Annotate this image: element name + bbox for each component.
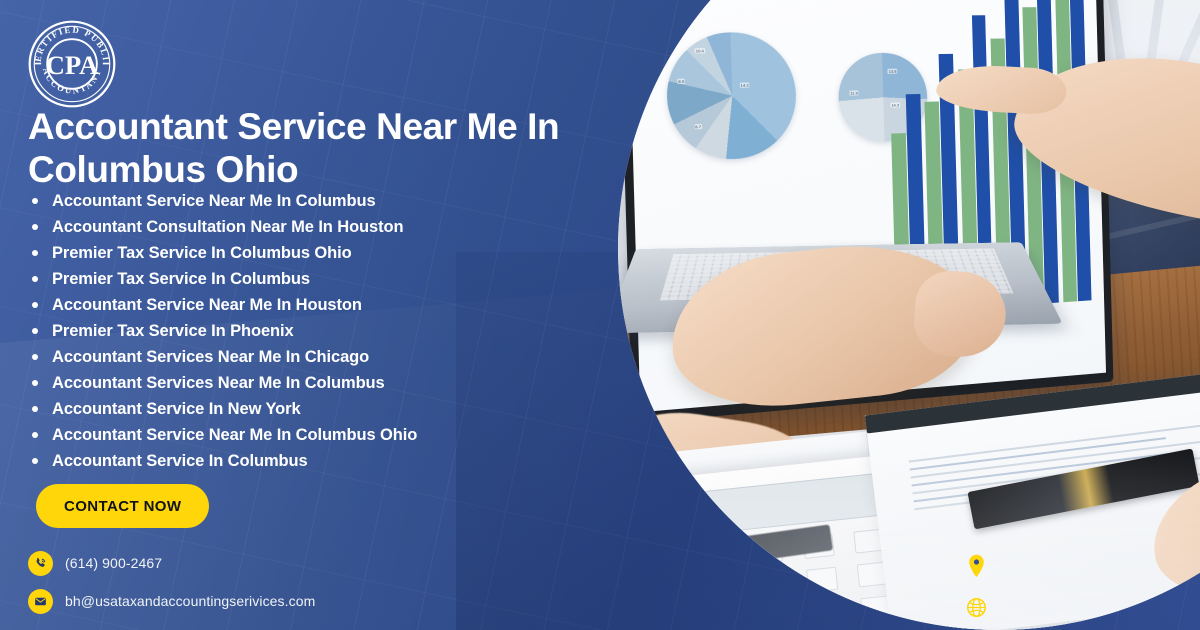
envelope-icon	[28, 589, 53, 614]
phone-row[interactable]: (614) 900-2467	[28, 546, 315, 580]
address-text: 495 s. High st, suite 400 Columbus Ohio …	[1003, 548, 1148, 584]
list-item: Premier Tax Service In Phoenix	[32, 318, 592, 344]
list-item: Accountant Service Near Me In Columbus	[32, 188, 592, 214]
list-item: Accountant Service Near Me In Columbus O…	[32, 422, 592, 448]
website-url: www.cpataxbh.com	[1003, 598, 1119, 616]
bullet-icon	[32, 198, 38, 204]
list-item-label: Accountant Service Near Me In Columbus O…	[52, 426, 417, 445]
bullet-icon	[32, 432, 38, 438]
contact-info-right: 495 s. High st, suite 400 Columbus Ohio …	[963, 548, 1148, 622]
list-item: Premier Tax Service In Columbus	[32, 266, 592, 292]
website-row[interactable]: www.cpataxbh.com	[963, 592, 1119, 622]
address-line-2: Columbus Ohio 43215	[1003, 567, 1137, 582]
contact-info-left: (614) 900-2467 bh@usataxandaccountingser…	[28, 546, 315, 622]
email-address: bh@usataxandaccountingserivices.com	[65, 593, 315, 609]
list-item-label: Premier Tax Service In Columbus	[52, 270, 310, 289]
bullet-icon	[32, 380, 38, 386]
cpa-seal-icon: CERTIFIED PUBLIC ACCOUNTANT CPA	[26, 18, 118, 110]
address-row: 495 s. High st, suite 400 Columbus Ohio …	[963, 548, 1148, 584]
list-item-label: Accountant Service Near Me In Columbus	[52, 192, 376, 211]
email-row[interactable]: bh@usataxandaccountingserivices.com	[28, 584, 315, 618]
list-item: Premier Tax Service In Columbus Ohio	[32, 240, 592, 266]
list-item: Accountant Consultation Near Me In Houst…	[32, 214, 592, 240]
list-item: Accountant Services Near Me In Columbus	[32, 370, 592, 396]
list-item: Accountant Service In New York	[32, 396, 592, 422]
logo-center-text: CPA	[46, 50, 100, 80]
bullet-icon	[32, 302, 38, 308]
page-title: Accountant Service Near Me In Columbus O…	[28, 106, 568, 192]
list-item-label: Accountant Services Near Me In Chicago	[52, 348, 369, 367]
list-item-label: Premier Tax Service In Phoenix	[52, 322, 294, 341]
contact-now-button[interactable]: CONTACT NOW	[36, 484, 209, 528]
list-item: Accountant Service In Columbus	[32, 448, 592, 474]
bullet-icon	[32, 354, 38, 360]
bullet-icon	[32, 458, 38, 464]
list-item-label: Accountant Service In Columbus	[52, 452, 308, 471]
bullet-icon	[32, 406, 38, 412]
bullet-icon	[32, 328, 38, 334]
list-item-label: Accountant Service Near Me In Houston	[52, 296, 362, 315]
list-item: Accountant Services Near Me In Chicago	[32, 344, 592, 370]
banner-canvas: 14.2 10.4 8.9 6.7 13.8 14.3 11.9	[0, 0, 1200, 630]
list-item-label: Premier Tax Service In Columbus Ohio	[52, 244, 352, 263]
address-line-1: 495 s. High st, suite 400	[1003, 549, 1148, 564]
list-item-label: Accountant Consultation Near Me In Houst…	[52, 218, 403, 237]
location-pin-icon	[963, 551, 989, 581]
list-item-label: Accountant Service In New York	[52, 400, 301, 419]
list-item-label: Accountant Services Near Me In Columbus	[52, 374, 385, 393]
globe-icon	[963, 592, 989, 622]
bullet-icon	[32, 276, 38, 282]
phone-icon	[28, 551, 53, 576]
phone-number: (614) 900-2467	[65, 555, 162, 571]
list-item: Accountant Service Near Me In Houston	[32, 292, 592, 318]
keyword-list: Accountant Service Near Me In ColumbusAc…	[32, 188, 592, 474]
bullet-icon	[32, 224, 38, 230]
bullet-icon	[32, 250, 38, 256]
